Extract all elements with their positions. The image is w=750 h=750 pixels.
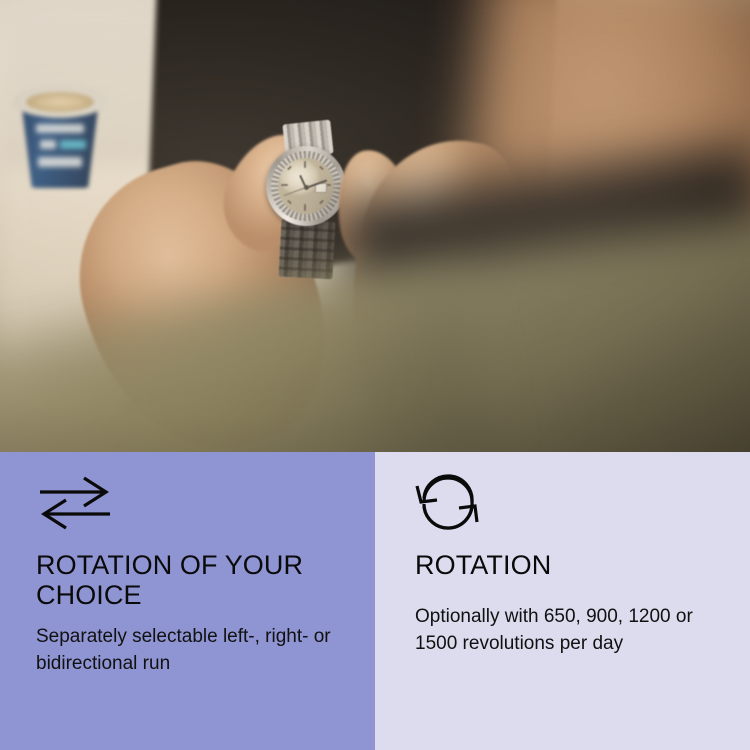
panel-body-text: Optionally with 650, 900, 1200 or 1500 r…	[415, 604, 724, 658]
watch-index-6	[304, 204, 306, 211]
panel-body-text: Separately selectable left-, right- or b…	[36, 624, 349, 678]
cup-label-line-3	[38, 157, 82, 167]
watch-index-1-2	[319, 166, 324, 171]
feature-panel-rotation: ROTATION Optionally with 650, 900, 1200 …	[375, 452, 750, 750]
watch-index-4-5	[319, 200, 324, 205]
watch-second-hand	[283, 187, 306, 196]
panel-title: ROTATION	[415, 550, 724, 580]
cup-label-line-2	[40, 140, 56, 149]
cup-label-line-1	[36, 124, 84, 133]
cup-coffee	[26, 92, 94, 112]
hero-photo	[0, 0, 750, 452]
watch-dial	[278, 158, 334, 214]
watch-hand-pivot	[304, 185, 309, 190]
watch-index-9	[281, 184, 288, 186]
watch-index-12	[304, 161, 306, 168]
feature-panels: ROTATION OF YOUR CHOICE Separately selec…	[0, 452, 750, 750]
panel-title: ROTATION OF YOUR CHOICE	[36, 550, 349, 610]
rotation-refresh-icon	[415, 474, 724, 536]
coffee-cup-icon	[14, 78, 106, 190]
feature-panel-rotation-of-your-choice: ROTATION OF YOUR CHOICE Separately selec…	[0, 452, 375, 750]
cup-label-line-2-accent	[60, 140, 86, 149]
watch-index-7-8	[287, 200, 292, 205]
page-root: ROTATION OF YOUR CHOICE Separately selec…	[0, 0, 750, 750]
watch-band-lower	[279, 219, 336, 280]
bidirectional-arrows-icon	[36, 474, 349, 536]
watch-index-10-11	[287, 166, 292, 171]
